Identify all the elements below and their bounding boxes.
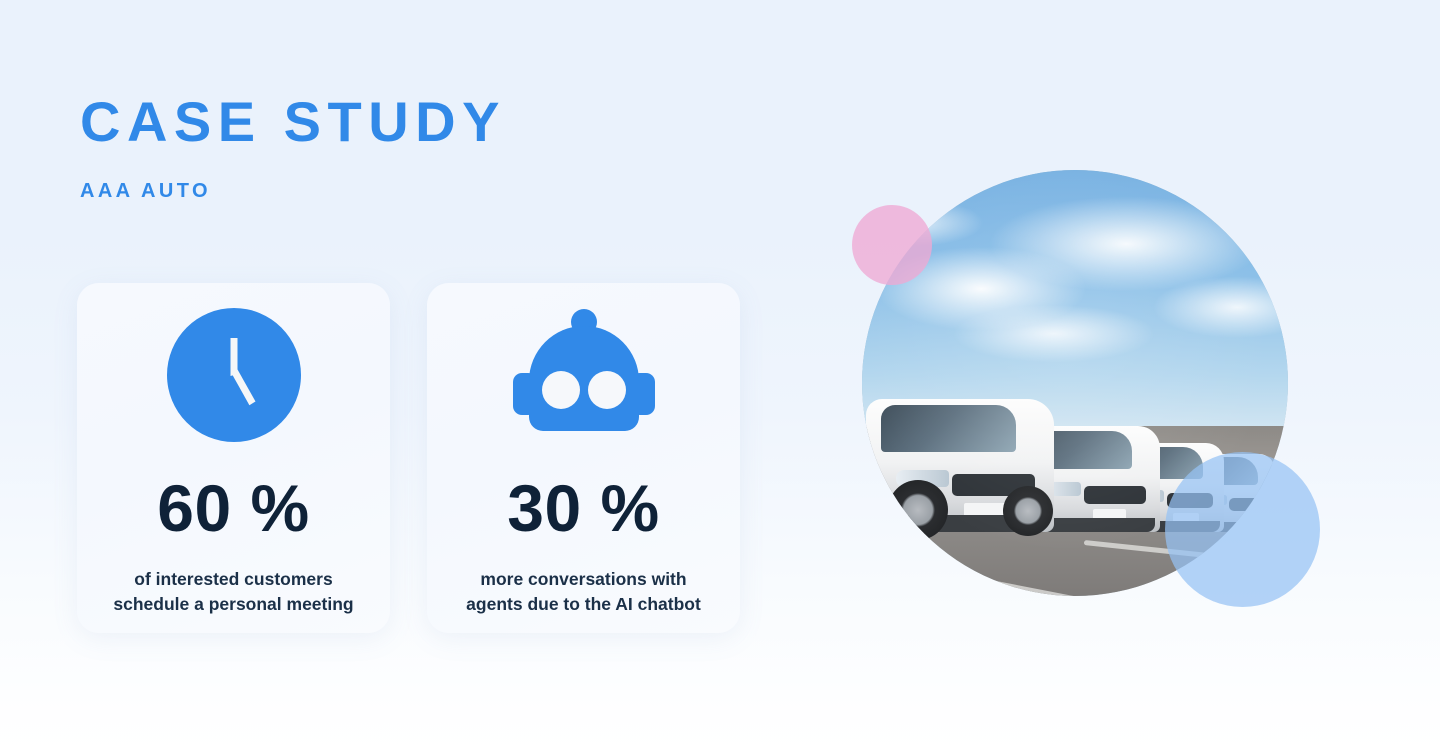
- clock-icon: [167, 308, 301, 442]
- visual-composition: [845, 150, 1325, 630]
- stat-icon-wrap: [167, 305, 301, 445]
- stat-caption-line: agents due to the AI chatbot: [466, 592, 701, 617]
- stat-card-meetings: 60 % of interested customers schedule a …: [77, 283, 390, 633]
- stat-icon-wrap: [513, 305, 655, 445]
- stat-caption-line: more conversations with: [466, 567, 701, 592]
- stat-caption-line: of interested customers: [113, 567, 353, 592]
- stat-cards-row: 60 % of interested customers schedule a …: [77, 283, 740, 633]
- heading-block: CASE STUDY AAA AUTO: [80, 92, 700, 203]
- stat-value: 60 %: [157, 475, 309, 541]
- stat-value: 30 %: [507, 475, 659, 541]
- stat-caption-line: schedule a personal meeting: [113, 592, 353, 617]
- blue-circle-icon: [1165, 452, 1320, 607]
- stat-caption: of interested customers schedule a perso…: [103, 567, 363, 618]
- car-wheel: [1003, 486, 1053, 536]
- robot-icon: [513, 309, 655, 441]
- case-study-slide: CASE STUDY AAA AUTO 60 % of interested c…: [0, 0, 1440, 752]
- car-windshield: [881, 405, 1016, 453]
- stat-caption: more conversations with agents due to th…: [456, 567, 711, 618]
- stat-card-conversations: 30 % more conversations with agents due …: [427, 283, 740, 633]
- pink-circle-icon: [852, 205, 932, 285]
- car-grille: [1084, 486, 1146, 504]
- car-wheel: [888, 480, 948, 540]
- page-subtitle: AAA AUTO: [80, 180, 700, 203]
- parking-lane-marking: [887, 560, 1147, 596]
- page-title: CASE STUDY: [80, 92, 700, 152]
